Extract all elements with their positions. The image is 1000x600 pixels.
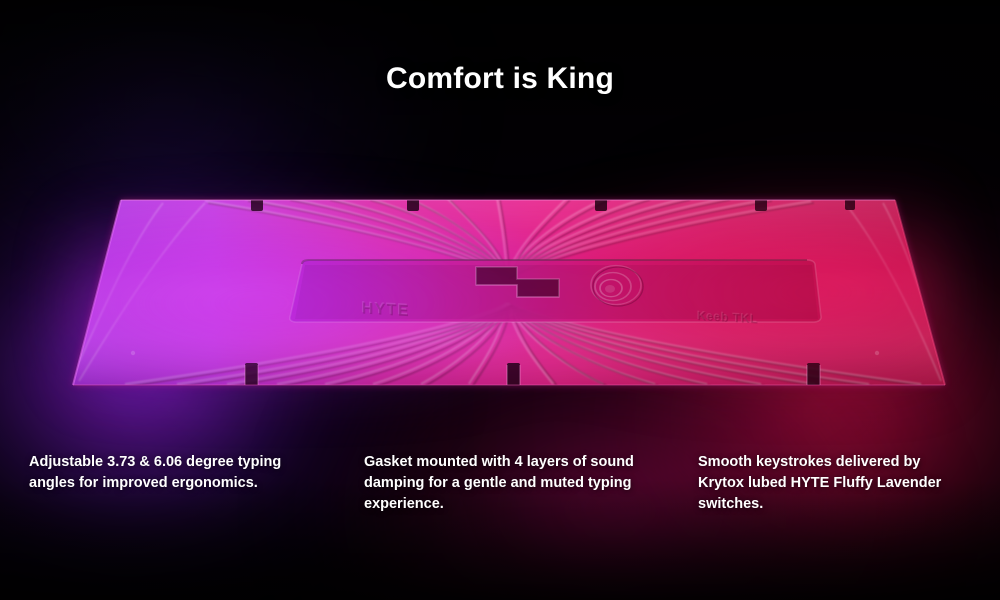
plate-surface-detail: HYTE HYTE Keeb TKL Keeb TKL <box>55 185 955 400</box>
keyboard-plate-graphic: HYTE HYTE Keeb TKL Keeb TKL <box>55 185 955 400</box>
feature-text-typing-angles: Adjustable 3.73 & 6.06 degree typing ang… <box>29 452 297 494</box>
feature-text-sound-damping: Gasket mounted with 4 layers of sound da… <box>364 452 652 515</box>
page-title: Comfort is King <box>0 62 1000 96</box>
marketing-hero-panel: Comfort is King <box>0 0 1000 600</box>
keyboard-plate-image: HYTE HYTE Keeb TKL Keeb TKL <box>55 185 955 400</box>
feature-text-switches: Smooth keystrokes delivered by Krytox lu… <box>698 452 970 515</box>
hyte-logo-emboss-shadow: HYTE <box>362 301 410 321</box>
concentric-circle-detail <box>591 266 643 307</box>
feature-copy-row: Adjustable 3.73 & 6.06 degree typing ang… <box>0 452 1000 572</box>
